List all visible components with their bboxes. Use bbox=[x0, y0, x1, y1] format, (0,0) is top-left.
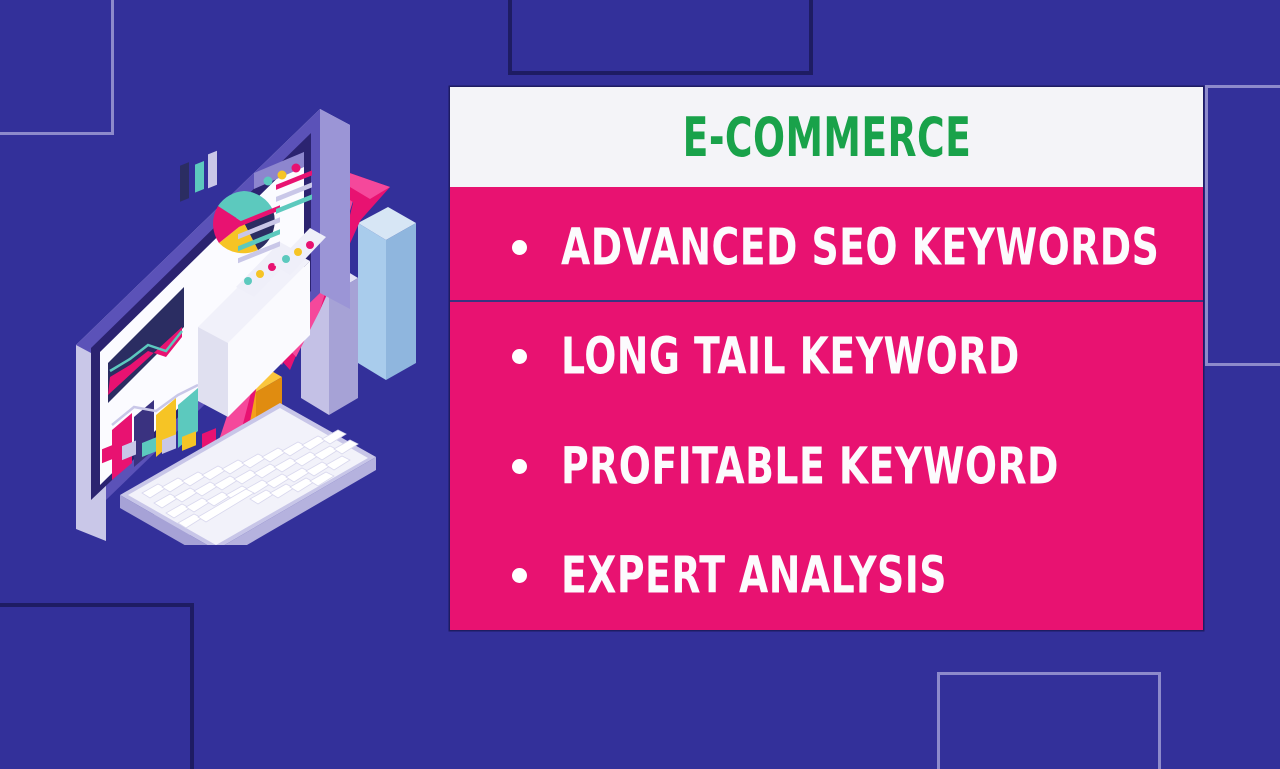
bullet-dot-icon bbox=[512, 240, 527, 255]
services-list: ADVANCED SEO KEYWORDS LONG TAIL KEYWORD … bbox=[450, 187, 1203, 630]
list-item[interactable]: ADVANCED SEO KEYWORDS bbox=[450, 193, 1203, 302]
bullet-dot-icon bbox=[512, 349, 527, 364]
list-item-label: LONG TAIL KEYWORD bbox=[561, 327, 1020, 386]
card-header: E-COMMERCE bbox=[450, 87, 1203, 187]
ecommerce-services-card: E-COMMERCE ADVANCED SEO KEYWORDS LONG TA… bbox=[450, 87, 1203, 630]
list-item[interactable]: PROFITABLE KEYWORD bbox=[450, 412, 1203, 521]
page-title: E-COMMERCE bbox=[682, 105, 971, 169]
bullet-dot-icon bbox=[512, 568, 527, 583]
list-item-label: ADVANCED SEO KEYWORDS bbox=[561, 218, 1159, 277]
bar-column-tall bbox=[358, 207, 416, 380]
list-item[interactable]: EXPERT ANALYSIS bbox=[450, 521, 1203, 630]
list-item-label: PROFITABLE KEYWORD bbox=[561, 437, 1059, 496]
list-item-label: EXPERT ANALYSIS bbox=[561, 546, 947, 605]
slide-canvas: E-COMMERCE ADVANCED SEO KEYWORDS LONG TA… bbox=[0, 0, 1280, 769]
decorative-rectangle-bottom-left bbox=[0, 603, 194, 769]
decorative-rectangle-top-center bbox=[508, 0, 813, 75]
list-item[interactable]: LONG TAIL KEYWORD bbox=[450, 302, 1203, 411]
bullet-dot-icon bbox=[512, 459, 527, 474]
decorative-rectangle-bottom-right bbox=[937, 672, 1161, 769]
isometric-analytics-illustration bbox=[58, 95, 458, 545]
decorative-rectangle-right bbox=[1205, 85, 1280, 366]
